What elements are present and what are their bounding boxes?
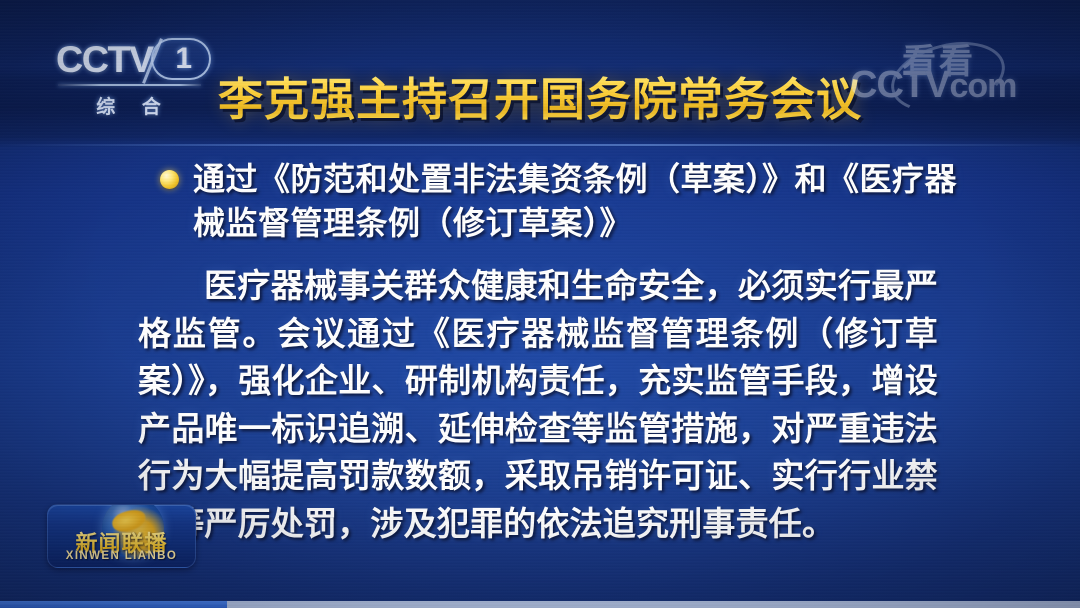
program-badge: 新闻联播 XINWEN LIANBO bbox=[47, 504, 196, 568]
channel-number: 1 bbox=[175, 44, 192, 74]
headline-text: 李克强主持召开国务院常务会议 bbox=[218, 73, 862, 128]
watermark-brand: CCTVcom bbox=[850, 64, 1016, 107]
progress-fill bbox=[0, 601, 227, 608]
logo-underline bbox=[58, 84, 201, 86]
cctv1-channel-logo: CCTV 1 综 合 bbox=[57, 37, 211, 119]
watermark-suffix: com bbox=[949, 67, 1016, 105]
bottom-progress-strip[interactable] bbox=[0, 601, 1080, 608]
bullet-item-label: 通过《防范和处置非法集资条例（草案）》和《医疗器械监督管理条例（修订草案）》 bbox=[193, 158, 960, 245]
body-paragraph: 医疗器械事关群众健康和生命安全，必须实行最严格监管。会议通过《医疗器械监督管理条… bbox=[138, 262, 938, 547]
channel-number-pill: 1 bbox=[151, 38, 211, 80]
band-edge-line bbox=[0, 144, 1080, 146]
cctv-com-watermark: 看看 CCTVcom bbox=[850, 34, 1060, 116]
cctv-logo-row: CCTV 1 bbox=[57, 37, 211, 81]
watermark-brand-text: CCTV bbox=[850, 64, 949, 106]
gold-dot-bullet-icon bbox=[160, 170, 179, 189]
broadcast-screen: CCTV 1 综 合 看看 CCTVcom 李克强主持召开国务院常务会议 通过《… bbox=[0, 0, 1080, 608]
program-name-pinyin: XINWEN LIANBO bbox=[48, 550, 195, 562]
cctv-wordmark: CCTV bbox=[56, 41, 153, 78]
channel-subtitle: 综 合 bbox=[57, 92, 200, 119]
bullet-item: 通过《防范和处置非法集资条例（草案）》和《医疗器械监督管理条例（修订草案）》 bbox=[160, 158, 960, 245]
